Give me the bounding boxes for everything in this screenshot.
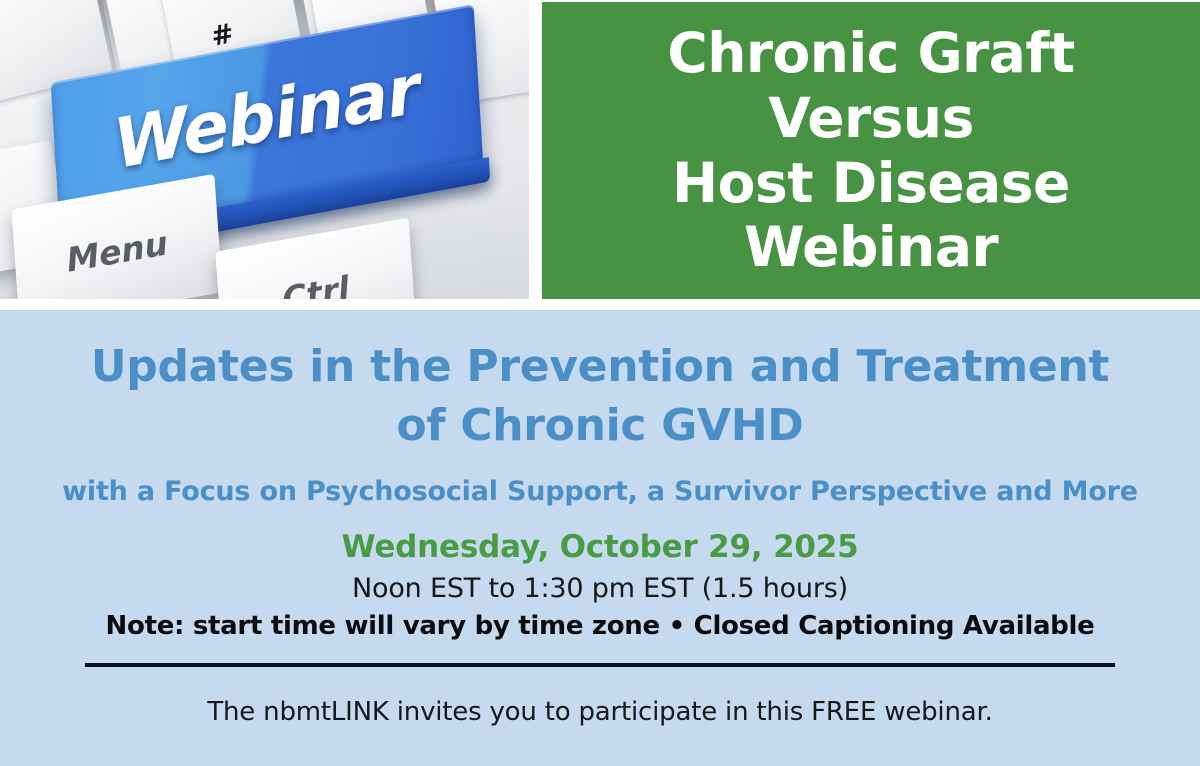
invitation-text: The nbmtLINK invites you to participate …: [0, 697, 1200, 727]
flyer-main-heading: Chronic Graft Versus Host Disease Webina…: [556, 21, 1186, 281]
session-title: Updates in the Prevention and Treatment …: [0, 338, 1200, 456]
session-title-line-2: of Chronic GVHD: [50, 397, 1150, 456]
event-note: Note: start time will vary by time zone …: [0, 611, 1200, 641]
section-divider: [85, 663, 1115, 667]
menu-key-label: Menu: [64, 223, 169, 280]
flyer-header: # Webinar Menu Ctrl Chronic Graft Versus…: [0, 0, 1200, 308]
event-date: Wednesday, October 29, 2025: [0, 529, 1200, 565]
keyboard-key-ctrl: Ctrl: [215, 218, 416, 299]
ctrl-key-label: Ctrl: [280, 268, 351, 299]
session-subtitle: with a Focus on Psychosocial Support, a …: [0, 476, 1200, 507]
heading-line-3: Webinar: [556, 215, 1186, 280]
heading-line-2: Host Disease: [556, 151, 1186, 216]
flyer-body: Updates in the Prevention and Treatment …: [0, 310, 1200, 766]
green-title-panel: Chronic Graft Versus Host Disease Webina…: [542, 2, 1200, 299]
webinar-flyer: # Webinar Menu Ctrl Chronic Graft Versus…: [0, 0, 1200, 766]
heading-line-1: Chronic Graft Versus: [556, 21, 1186, 151]
session-title-line-1: Updates in the Prevention and Treatment: [50, 338, 1150, 397]
event-time: Noon EST to 1:30 pm EST (1.5 hours): [0, 573, 1200, 604]
keyboard-surface: # Webinar Menu Ctrl: [0, 0, 529, 299]
keyboard-webinar-key-photo: # Webinar Menu Ctrl: [0, 0, 529, 299]
